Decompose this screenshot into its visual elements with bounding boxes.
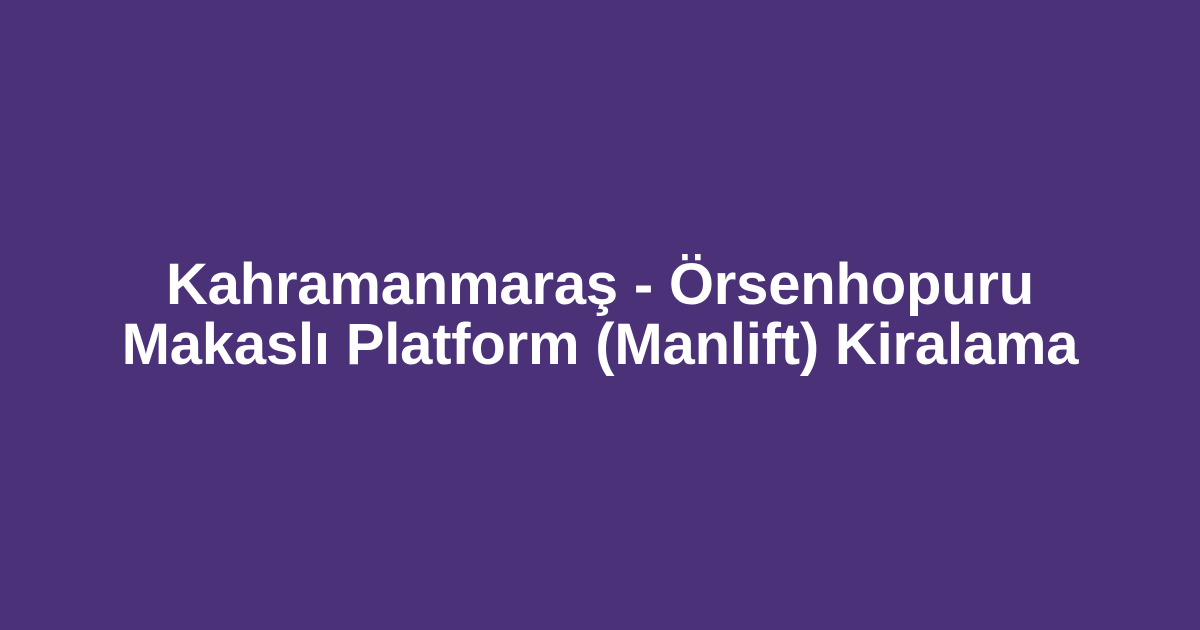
page-title-line-2: Makaslı Platform (Manlift) Kiralama xyxy=(120,315,1080,375)
page-title: Kahramanmaraş - Örsenhopuru Makaslı Plat… xyxy=(120,255,1080,375)
og-card: Kahramanmaraş - Örsenhopuru Makaslı Plat… xyxy=(0,0,1200,630)
page-title-line-1: Kahramanmaraş - Örsenhopuru xyxy=(120,255,1080,315)
